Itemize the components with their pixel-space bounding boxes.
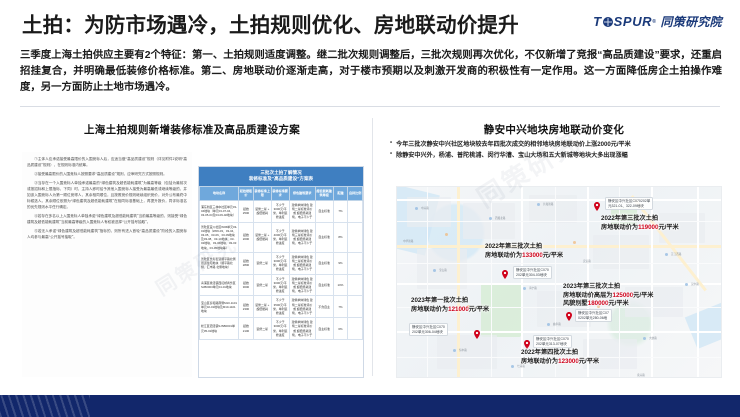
cell-low: 自主标准	[315, 318, 333, 340]
cell-name: 松江区泗泾镇SJSB0001单元05-01地块	[200, 318, 239, 340]
price-callout-133000: 2022年第三批次土拍 房地联动价为133000元/平米	[485, 243, 563, 260]
cell-name: 普陀区宜川社区W06单元03-01地块（W06-03、03-04、03-05、0…	[200, 222, 239, 252]
cell-build: 6%	[333, 318, 348, 340]
callout-suffix: 元/平米	[469, 306, 489, 313]
cell-name: 浦东新区三林中社区单元03-04地块（单元03-07-04、03-05-03及0…	[200, 200, 239, 222]
table-row: 普陀区宜川社区W06单元03-01地块（W06-03、03-04、03-05、0…	[200, 222, 363, 252]
slide-root: 土拍：为防市场遇冷，土拍规则优化、房地联动价提升 T SPUR ® 同策研究院 …	[0, 0, 740, 417]
cell-std: 装修二星	[253, 252, 271, 274]
price-callout-125000: 2023年第三批次土拍 房地联动价高层为125000元/平米 风貌别墅18000…	[563, 283, 653, 309]
map-poi-icon	[415, 207, 418, 210]
map-poi-icon	[685, 283, 688, 286]
price-callout-123000: 2022年第四批次土拍 房地联动价为123000元/平米	[521, 349, 599, 366]
cell-build: 8%	[333, 222, 348, 252]
table-row: 宝山区泰和路南侧M10-1101单元02-01地块及M10-1101地块 起始 …	[200, 296, 363, 318]
callout-prefix: 房地联动价为	[411, 306, 448, 313]
logo-prefix: T	[593, 14, 602, 29]
plot-code-line1: 静安区中兴社区C070	[516, 268, 549, 272]
cell-name: 宝山区泰和路南侧M10-1101单元02-01地块及M10-1101地块	[200, 296, 239, 318]
callout-line2: 房地联动价为123000元/平米	[521, 358, 599, 367]
map-poi-label: 恒丰路	[459, 348, 467, 352]
map-poi-label: 大统路	[649, 336, 657, 340]
map-road-minor	[491, 187, 492, 377]
plot-code-line2: 202单元313-07地块	[536, 342, 567, 346]
cell-price: 起始 2500	[239, 200, 254, 222]
table-row: 浦东新区三林中社区单元03-04地块（单元03-07-04、03-05-03及0…	[200, 200, 363, 222]
callout-prefix: 房地联动价高层为	[563, 292, 613, 299]
map-road	[397, 199, 721, 201]
cell-green: 建筑单体绿色 建筑二星标准评价或 超低能耗建筑，电子不少于	[289, 200, 315, 222]
panel-divider	[372, 118, 373, 376]
callout-value2: 180000	[588, 300, 609, 307]
header-divider	[20, 106, 720, 107]
cell-price: 起始 2000	[239, 222, 254, 252]
cell-price: 起始 2300	[239, 296, 254, 318]
cell-name: 青浦区徐泾镇西虹桥商务区SJB0003单元04-01地块	[200, 274, 239, 296]
map-pin-icon[interactable]	[502, 270, 509, 279]
bullet-dot-icon: •	[390, 151, 392, 159]
page-title: 土拍：为防市场遇冷，土拍规则优化、房地联动价提升	[22, 8, 519, 38]
cell-req: 不少于 3500元/平米，单列装修进度	[271, 296, 289, 318]
cell-low: 自主标准	[315, 222, 333, 252]
map-pin-icon[interactable]	[566, 312, 573, 321]
callout-value: 133000	[522, 252, 543, 259]
map-poi-icon	[511, 365, 514, 368]
column-header: 装修标准要求	[271, 186, 289, 200]
bullet-text: 今年三批次静安中兴社区地块较去年四批次成交的相邻地块房地联动价上涨2000元/平…	[396, 140, 631, 149]
map-poi-icon	[643, 337, 646, 340]
logo-chinese-name: 同策研究院	[660, 13, 722, 30]
list-item: • 今年三批次静安中兴社区地块较去年四批次成交的相邻地块房地联动价上涨2000元…	[390, 140, 722, 149]
cell-req: 不少于 3000元/平米，单列装修进度	[271, 200, 289, 222]
plot-code-line1: 静安区中兴社区C07	[578, 311, 609, 315]
cell-build: 10%	[333, 274, 348, 296]
map-road	[397, 283, 721, 285]
column-header: 地块名称	[200, 186, 239, 200]
cell-build: 7%	[333, 200, 348, 222]
insight-bullet-list: • 今年三批次静安中兴社区地块较去年四批次成交的相邻地块房地联动价上涨2000元…	[390, 140, 722, 162]
map-poi-icon	[665, 253, 668, 256]
callout-suffix: 元/平米	[543, 252, 563, 259]
callout-line1: 2023年第一批次土拍	[411, 297, 489, 306]
price-callout-121000: 2023年第一批次土拍 房地联动价为121000元/平米	[411, 297, 489, 314]
bullet-dot-icon: •	[390, 140, 392, 148]
cell-req: 不少于 3000元/平米，单列装修进度	[271, 274, 289, 296]
plot-code-line2: 202单元304-03地块	[516, 273, 547, 277]
plot-code-line1: 静安区中兴社区C070202单	[608, 199, 650, 203]
subtitle-paragraph: 三季度上海土拍供应主要有2个特征：第一、土拍规则适度调整。继二批次规则调整后，三…	[20, 48, 722, 95]
callout-suffix: 元/平米	[579, 358, 599, 365]
callout-value: 119000	[638, 224, 658, 231]
globe-icon	[603, 17, 613, 27]
plot-code-tag: 静安区中兴社区C070 202单元304-03地块	[513, 266, 552, 279]
decoration-standards-table: 三批次土拍了解情况 装修标准及“高品质建设”方案表 地块名称 起始楼板价 装修标…	[198, 166, 364, 378]
left-panel-heading: 上海土拍规则新增装修标准及高品质建设方案	[22, 122, 362, 137]
bullet-text: 除静安中兴外，杨浦、普陀桃浦、闵行华漕、宝山大场和五大新城等地块大多出现涨幅	[396, 151, 628, 160]
callout-value: 125000	[613, 292, 634, 299]
map-poi-label: 宝山路	[439, 268, 447, 272]
cell-hold	[348, 274, 363, 296]
logo-spur: SPUR	[614, 14, 653, 29]
cell-green: 建筑单体绿色 建筑二星标准评价或 超低能耗建筑，电子不少于	[289, 274, 315, 296]
map-poi-label: 曲阜路	[553, 322, 561, 326]
cell-build: 7%	[333, 296, 348, 318]
map-poi-label: 安远路	[583, 259, 591, 263]
map-poi-icon	[445, 233, 448, 236]
table-body: 浦东新区三林中社区单元03-04地块（单元03-07-04、03-05-03及0…	[200, 200, 363, 339]
callout-prefix2: 风貌别墅	[563, 300, 588, 307]
map-poi-label: 芷江西路	[671, 252, 681, 256]
plot-code-line1: 静安区中兴社区C070	[412, 325, 445, 329]
right-panel-heading: 静安中兴地块房地联动价变化	[386, 122, 722, 137]
cell-req: 不少于 3000元/平米，单列装修进度	[271, 318, 289, 340]
map-poi-label: 海宁路	[529, 286, 537, 290]
plot-code-line2: 0202单元280-06地	[578, 316, 607, 320]
column-header: 自持比例	[348, 186, 363, 200]
callout-value: 121000	[448, 306, 469, 313]
plot-code-tag: 静安区中兴社区C07 0202单元280-06地	[575, 309, 612, 322]
logo-wordmark: T SPUR ®	[593, 14, 656, 29]
cell-hold	[348, 200, 363, 222]
document-paragraph: ③当存在一个入围竞标人单独承诺最高的“绿色建筑及超低能耗建筑”为最高等级（包括为…	[27, 180, 187, 211]
callout-line2: 房地联动价高层为125000元/平米	[563, 292, 653, 301]
cell-low: 自主标准	[315, 252, 333, 274]
map-poi-icon	[547, 323, 550, 326]
table: 地块名称 起始楼板价 装修标准上限 装修标准要求 绿色建筑要求 超低能耗建筑等级…	[199, 186, 363, 340]
plot-code-tag: 静安区中兴社区C070 202单元306-04地块	[409, 323, 448, 336]
cell-req: 不少于 4000元/平米，单列装修进度	[271, 222, 289, 252]
cell-std: 装修二星 + 超低能耗	[253, 296, 271, 318]
cell-green: 建筑单体绿色 建筑二星标准评价或 超低能耗建筑，电子不少于	[289, 296, 315, 318]
cell-hold	[348, 318, 363, 340]
callout-value: 123000	[558, 358, 579, 365]
map-block	[437, 335, 497, 369]
callout-line2: 房地联动价为119000元/平米	[601, 224, 679, 233]
table-row: 松江区泗泾镇SJSB0001单元05-01地块 起始 2100 装修二星 不少于…	[200, 318, 363, 340]
map-water	[685, 295, 722, 349]
cell-green: 建筑单体绿色 建筑二星标准评价或 超低能耗建筑，电子不少于	[289, 318, 315, 340]
map-poi-label: 西藏北路	[495, 216, 505, 220]
map-poi-icon	[453, 349, 456, 352]
cell-hold	[348, 252, 363, 274]
callout-line1: 2022年第四批次土拍	[521, 349, 599, 358]
land-auction-map[interactable]: 中兴路 西藏北路 共和新路 天目中路 芷江西路 宝山路 海宁路 曲阜路 大统路 …	[396, 186, 722, 378]
map-poi-label: 中华新路	[403, 239, 413, 243]
cell-low: 自主标准	[315, 274, 333, 296]
list-item: • 除静安中兴外，杨浦、普陀桃浦、闵行华漕、宝山大场和五大新城等地块大多出现涨幅	[390, 151, 722, 160]
callout-line2: 房地联动价为133000元/平米	[485, 252, 563, 261]
cell-std: 装修二星	[253, 318, 271, 340]
map-poi-icon	[523, 287, 526, 290]
table-row: 普陀区长寿街道顺平路北侧街道住宅地块（顺平路北侧、汇丰路 北侧地块） 起始 28…	[200, 252, 363, 274]
cell-std: 装修二星	[253, 274, 271, 296]
plot-code-tag: 静安区中兴社区C070 202单元313-07地块	[533, 335, 572, 348]
plot-code-tag: 静安区中兴社区C070202单 元321-01、322-09地块	[605, 197, 653, 210]
cell-std: 装修二星 + 超低能耗	[253, 200, 271, 222]
map-poi-label: 共和新路	[543, 202, 553, 206]
callout-suffix: 元/平米	[633, 292, 653, 299]
map-pin-icon[interactable]	[594, 202, 601, 211]
cell-price: 起始 2100	[239, 318, 254, 340]
slide-footer	[0, 395, 740, 417]
plot-code-line1: 静安区中兴社区C070	[536, 337, 569, 341]
cell-low: 不含自主	[315, 296, 333, 318]
map-poi-icon	[573, 241, 576, 244]
table-row: 青浦区徐泾镇西虹桥商务区SJB0003单元04-01地块 起始 3000 装修二…	[200, 274, 363, 296]
footer-stripe-decoration	[0, 395, 90, 417]
cell-hold	[348, 222, 363, 252]
map-pin-icon[interactable]	[474, 330, 481, 339]
callout-line1: 2022年第三批次土拍	[485, 243, 563, 252]
policy-document-excerpt: ①主体人应承诺接受最高限价的入围竞标人后，应适当做“高品质建设”规则（详见附件2…	[22, 152, 192, 377]
column-header: 配建	[333, 186, 348, 200]
slide-header: 土拍：为防市场遇冷，土拍规则优化、房地联动价提升 T SPUR ® 同策研究院	[0, 0, 740, 46]
table-title: 三批次土拍了解情况 装修标准及“高品质建设”方案表	[199, 167, 363, 186]
cell-hold	[348, 296, 363, 318]
callout-line1: 2022年第三批次土拍	[601, 215, 679, 224]
map-poi-label: 中兴路	[421, 206, 429, 210]
cell-req: 不少于 3000元/平米，单列装修进度	[271, 252, 289, 274]
callout-suffix: 元/平米	[658, 224, 678, 231]
map-road-minor	[397, 263, 721, 264]
cell-std: 装修二星 + 超低能耗	[253, 222, 271, 252]
plot-code-line2: 元321-01、322-09地块	[608, 204, 644, 208]
document-paragraph: ⑤若无人承诺“绿色建筑及超低能耗建筑”指标的，则所有进入首轮“高品质建设”阶段的…	[27, 228, 187, 240]
map-poi-icon	[489, 217, 492, 220]
column-header: 装修标准上限	[253, 186, 271, 200]
document-paragraph: ④若存在多名以上入围竞标人单独承诺“绿色建筑及超低能耗建筑”当前最高等级的，则接…	[27, 213, 187, 225]
cell-price: 起始 2800	[239, 252, 254, 274]
callout-line2: 房地联动价为121000元/平米	[411, 306, 489, 315]
column-header: 绿色建筑要求	[289, 186, 315, 200]
cell-name: 普陀区长寿街道顺平路北侧街道住宅地块（顺平路北侧、汇丰路 北侧地块）	[200, 252, 239, 274]
map-road-minor	[427, 187, 428, 377]
map-poi-label: 永兴路	[637, 373, 645, 377]
map-poi-label: 汉中路	[691, 282, 699, 286]
trademark-icon: ®	[652, 19, 656, 25]
map-poi-icon	[433, 269, 436, 272]
price-callout-119000: 2022年第三批次土拍 房地联动价为119000元/平米	[601, 215, 679, 232]
plot-code-line2: 202单元306-04地块	[412, 330, 443, 334]
callout-prefix: 房地联动价为	[485, 252, 522, 259]
callout-suffix2: 元/平米	[608, 300, 628, 307]
cell-green: 建筑单体绿色 建筑三星标准评价或 超低能耗建筑，电子不少于	[289, 222, 315, 252]
cell-green: 建筑单体绿色 建筑二星标准评价或 超低能耗建筑，电子不少于	[289, 252, 315, 274]
column-header: 超低能耗建筑等级	[315, 186, 333, 200]
cell-low: 自主标准	[315, 200, 333, 222]
table-title-line2: 装修标准及“高品质建设”方案表	[201, 176, 361, 183]
cell-price: 起始 3000	[239, 274, 254, 296]
document-paragraph: ②接受最高限价的入围竞标人按照要求“高品质建设”规则，应审研究方式按照规则。	[27, 171, 187, 177]
cell-build: 9%	[333, 252, 348, 274]
callout-line3: 风貌别墅180000元/平米	[563, 300, 653, 309]
callout-prefix: 房地联动价为	[521, 358, 558, 365]
map-block	[407, 197, 451, 227]
callout-line1: 2023年第三批次土拍	[563, 283, 653, 292]
column-header: 起始楼板价	[239, 186, 254, 200]
callout-prefix: 房地联动价为	[601, 224, 638, 231]
map-pin-icon[interactable]	[524, 340, 531, 349]
document-paragraph: ①主体人应承诺接受最高限价的入围竞标人后，应适当做“高品质建设”规则（详见附件2…	[27, 156, 187, 168]
brand-logo: T SPUR ® 同策研究院	[593, 13, 722, 30]
map-poi-icon	[537, 203, 540, 206]
table-header-row: 地块名称 起始楼板价 装修标准上限 装修标准要求 绿色建筑要求 超低能耗建筑等级…	[200, 186, 363, 200]
